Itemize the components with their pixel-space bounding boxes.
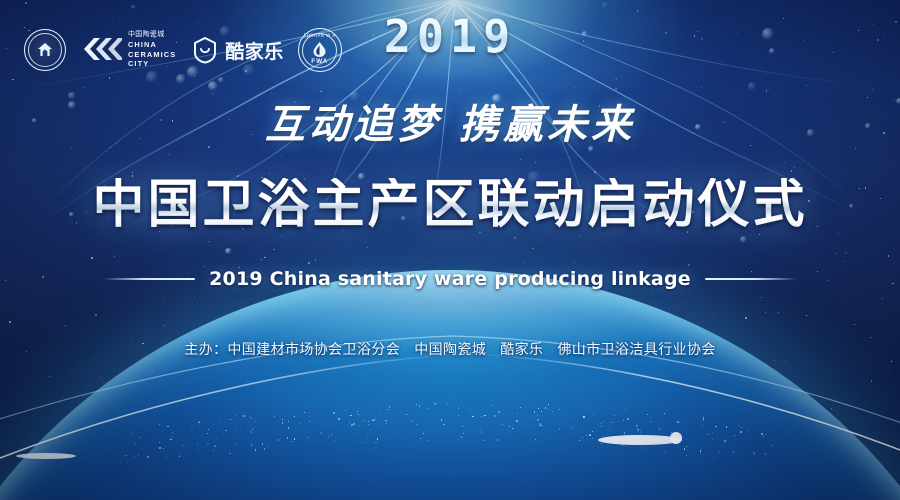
event-year: 2019 bbox=[0, 14, 900, 59]
ceramics-en-line3: CITY bbox=[128, 59, 176, 69]
organizer-item: 酷家乐 bbox=[500, 342, 543, 358]
rule-right-decoration bbox=[705, 278, 797, 280]
rule-left-decoration bbox=[103, 278, 195, 280]
organizer-item: 主办：中国建材市场协会卫浴分会 bbox=[184, 342, 400, 358]
organizers-text: 主办：中国建材市场协会卫浴分会中国陶瓷城酷家乐佛山市卫浴洁具行业协会 bbox=[184, 339, 716, 359]
organizers-row: 主办：中国建材市场协会卫浴分会中国陶瓷城酷家乐佛山市卫浴洁具行业协会 bbox=[0, 339, 900, 359]
english-subtitle: 2019 China sanitary ware producing linka… bbox=[209, 268, 691, 290]
organizer-item: 中国陶瓷城 bbox=[414, 342, 486, 358]
home-mark-icon bbox=[34, 39, 56, 61]
earth-horizon-graphic bbox=[0, 270, 900, 500]
page-title: 中国卫浴主产区联动启动仪式 bbox=[0, 178, 900, 233]
event-slogan: 互动追梦 携赢未来 bbox=[0, 104, 900, 146]
organizer-item: 佛山市卫浴洁具行业协会 bbox=[557, 342, 715, 358]
event-poster: 中国陶瓷城 CHINA CERAMICS CITY 酷家乐 FOSHAN W A… bbox=[0, 0, 900, 500]
english-subtitle-row: 2019 China sanitary ware producing linka… bbox=[0, 268, 900, 290]
fwa-abbr-label: FWA bbox=[299, 58, 341, 65]
